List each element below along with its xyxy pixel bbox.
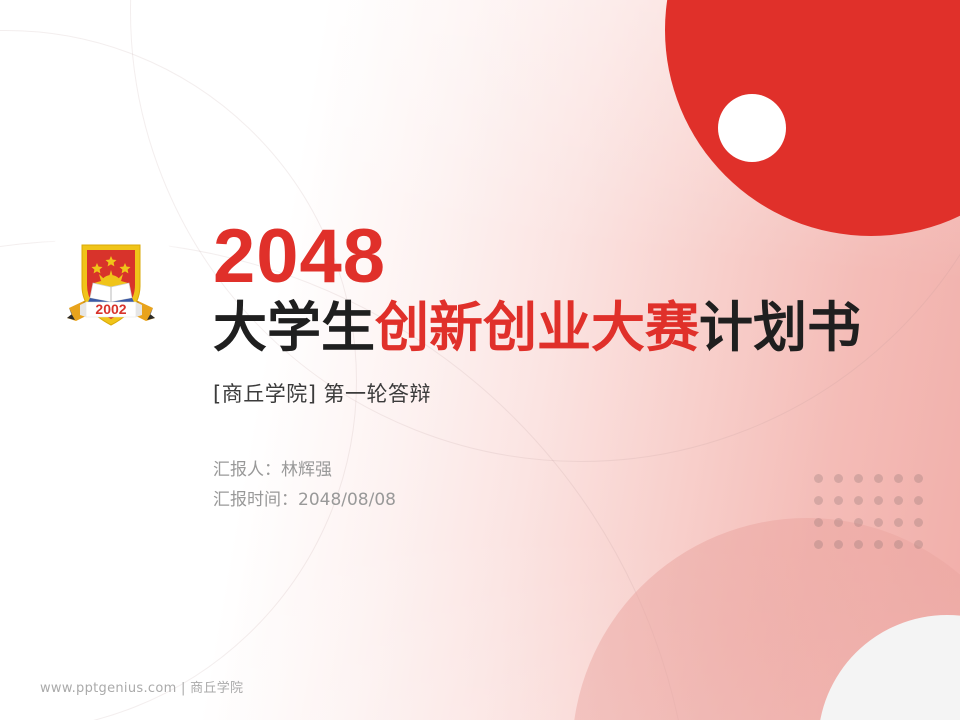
- presenter-line: 汇报人：林辉强: [213, 456, 913, 486]
- university-crest-logo: 2002: [56, 228, 166, 338]
- grid-dot: [914, 474, 923, 483]
- cover-text-block: 2048 大学生创新创业大赛计划书 [商丘学院] 第一轮答辩 汇报人：林辉强 汇…: [213, 222, 913, 516]
- year-heading: 2048: [213, 222, 913, 292]
- grid-dot: [814, 518, 823, 527]
- title-segment-accent: 创新创业大赛: [375, 296, 699, 359]
- presentation-cover-slide: 2002 2048 大学生创新创业大赛计划书 [商丘学院] 第一轮答辩 汇报人：…: [0, 0, 960, 720]
- decorative-white-circle-accent: [718, 94, 786, 162]
- page-title: 大学生创新创业大赛计划书: [213, 298, 913, 358]
- presentation-meta: 汇报人：林辉强 汇报时间：2048/08/08: [213, 456, 913, 516]
- crest-icon: 2002: [56, 228, 166, 338]
- grid-dot: [834, 518, 843, 527]
- footer-credit: www.pptgenius.com | 商丘学院: [40, 677, 243, 696]
- grid-dot: [914, 496, 923, 505]
- title-segment-leading: 大学生: [213, 296, 375, 359]
- date-line: 汇报时间：2048/08/08: [213, 486, 913, 516]
- grid-dot: [874, 518, 883, 527]
- grid-dot: [854, 540, 863, 549]
- grid-dot: [914, 518, 923, 527]
- grid-dot: [834, 540, 843, 549]
- grid-dot: [814, 540, 823, 549]
- grid-dot: [894, 540, 903, 549]
- page-subtitle: [商丘学院] 第一轮答辩: [213, 378, 913, 408]
- title-segment-trailing: 计划书: [699, 296, 861, 359]
- grid-dot: [874, 540, 883, 549]
- grid-dot: [914, 540, 923, 549]
- crest-year-text: 2002: [95, 301, 126, 317]
- grid-dot: [894, 518, 903, 527]
- grid-dot: [854, 518, 863, 527]
